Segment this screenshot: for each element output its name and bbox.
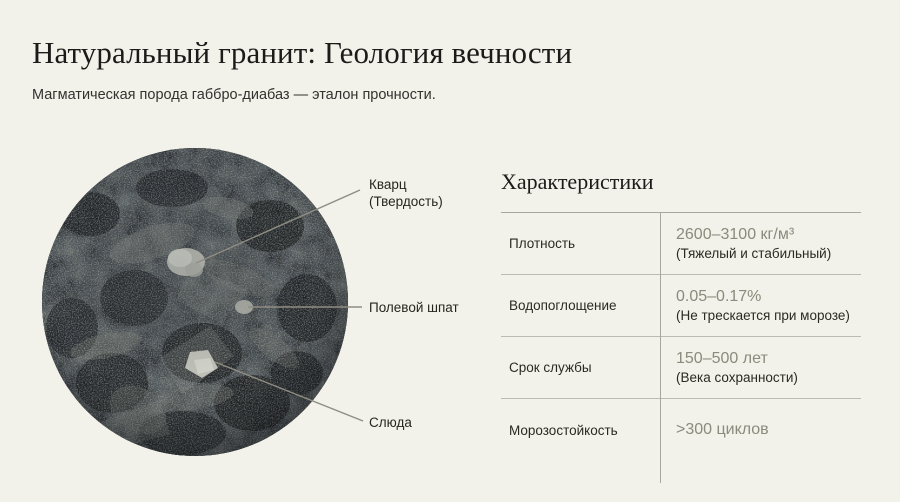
callout-quartz-label: Кварц — [369, 177, 407, 192]
page-title: Натуральный гранит: Геология вечности — [32, 36, 572, 70]
table-row: Морозостойкость >300 циклов — [501, 399, 861, 461]
specs-panel: Характеристики Плотность 2600–3100 кг/м³… — [501, 171, 861, 461]
specs-title: Характеристики — [501, 171, 861, 193]
spec-value-cell: >300 циклов — [660, 414, 861, 446]
spec-note: (Тяжелый и стабильный) — [676, 245, 861, 263]
spec-value: 2600–3100 кг/м³ — [676, 225, 861, 245]
callout-feldspar-label: Полевой шпат — [369, 300, 459, 315]
granite-disc-image — [42, 148, 348, 456]
spec-key: Водопоглощение — [501, 292, 660, 319]
spec-value-cell: 2600–3100 кг/м³ (Тяжелый и стабильный) — [660, 219, 861, 269]
spec-value-cell: 150–500 лет (Века сохранности) — [660, 343, 861, 393]
table-row: Срок службы 150–500 лет (Века сохранност… — [501, 337, 861, 399]
spec-note: (Не трескается при морозе) — [676, 307, 861, 325]
spec-note: (Века сохранности) — [676, 369, 861, 387]
specs-column-divider — [660, 213, 661, 483]
spec-value: 150–500 лет — [676, 349, 861, 369]
spec-key: Срок службы — [501, 354, 660, 381]
spec-value: 0.05–0.17% — [676, 287, 861, 307]
callout-quartz: Кварц (Твердость) — [369, 176, 443, 210]
specs-table: Плотность 2600–3100 кг/м³ (Тяжелый и ста… — [501, 212, 861, 461]
callout-mica-label: Слюда — [369, 415, 412, 430]
spec-value: >300 циклов — [676, 420, 861, 440]
granite-sample — [42, 148, 348, 456]
poster-canvas: Натуральный гранит: Геология вечности Ма… — [0, 0, 900, 502]
callout-quartz-sub: (Твердость) — [369, 193, 443, 210]
spec-key: Морозостойкость — [501, 417, 660, 444]
page-subtitle: Магматическая порода габбро-диабаз — эта… — [32, 87, 436, 103]
table-row: Плотность 2600–3100 кг/м³ (Тяжелый и ста… — [501, 213, 861, 275]
table-row: Водопоглощение 0.05–0.17% (Не трескается… — [501, 275, 861, 337]
callout-mica: Слюда — [369, 414, 412, 431]
spec-key: Плотность — [501, 230, 660, 257]
callout-feldspar: Полевой шпат — [369, 299, 459, 316]
spec-value-cell: 0.05–0.17% (Не трескается при морозе) — [660, 281, 861, 331]
